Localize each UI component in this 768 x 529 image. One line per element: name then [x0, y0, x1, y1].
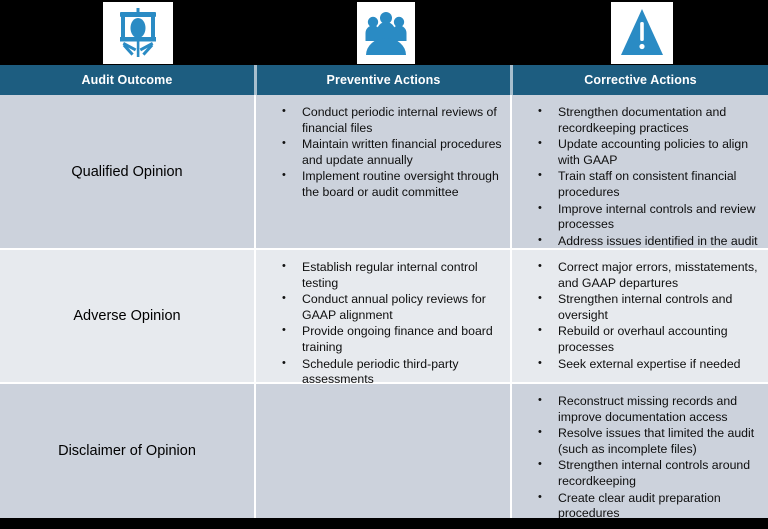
preventive-actions-list: [256, 384, 510, 400]
corrective-actions-list: Strengthen documentation and recordkeepi…: [512, 95, 768, 256]
corrective-actions-cell: Strengthen documentation and recordkeepi…: [510, 95, 768, 248]
table-row: Disclaimer of Opinion Reconstruct missin…: [0, 384, 768, 518]
corrective-actions-cell: Reconstruct missing records and improve …: [510, 384, 768, 518]
icon-box-preventive-actions: [357, 2, 415, 64]
audit-outcome-label: Qualified Opinion: [71, 164, 182, 180]
corrective-actions-list: Correct major errors, misstatements, and…: [512, 250, 768, 379]
table-header-row: Audit Outcome Preventive Actions Correct…: [0, 65, 768, 95]
list-item: Train staff on consistent financial proc…: [538, 169, 760, 200]
list-item: Update accounting policies to align with…: [538, 137, 760, 168]
group-of-people-icon: [364, 9, 408, 57]
preventive-actions-cell: Establish regular internal control testi…: [254, 250, 510, 382]
list-item: Conduct periodic internal reviews of fin…: [282, 105, 502, 136]
warning-triangle-icon: [620, 8, 664, 58]
preventive-actions-cell: Conduct periodic internal reviews of fin…: [254, 95, 510, 248]
list-item: Maintain written financial procedures an…: [282, 137, 502, 168]
preventive-actions-list: Establish regular internal control testi…: [256, 250, 510, 395]
list-item: Reconstruct missing records and improve …: [538, 394, 760, 425]
column-header-preventive-actions: Preventive Actions: [254, 65, 510, 95]
list-item: Resolve issues that limited the audit (s…: [538, 426, 760, 457]
preventive-actions-list: Conduct periodic internal reviews of fin…: [256, 95, 510, 208]
audit-outcome-table: Audit Outcome Preventive Actions Correct…: [0, 65, 768, 518]
table-row: Adverse Opinion Establish regular intern…: [0, 250, 768, 384]
corrective-actions-cell: Correct major errors, misstatements, and…: [510, 250, 768, 382]
icon-band: [0, 0, 768, 65]
column-header-label: Preventive Actions: [327, 73, 441, 87]
list-item: Provide ongoing finance and board traini…: [282, 324, 502, 355]
list-item: Strengthen internal controls around reco…: [538, 458, 760, 489]
list-item: Seek external expertise if needed: [538, 357, 760, 373]
preventive-actions-cell: [254, 384, 510, 518]
list-item: Correct major errors, misstatements, and…: [538, 260, 760, 291]
audit-outcome-label: Adverse Opinion: [73, 308, 180, 324]
icon-box-audit-outcome: [103, 2, 173, 64]
audit-outcome-label: Disclaimer of Opinion: [58, 443, 196, 459]
column-header-label: Corrective Actions: [584, 73, 696, 87]
bottom-strip: [0, 518, 768, 526]
column-header-label: Audit Outcome: [82, 73, 173, 87]
corrective-actions-list: Reconstruct missing records and improve …: [512, 384, 768, 529]
audit-outcome-cell: Disclaimer of Opinion: [0, 384, 254, 518]
list-item: Strengthen internal controls and oversig…: [538, 292, 760, 323]
list-item: Improve internal controls and review pro…: [538, 202, 760, 233]
table-row: Qualified Opinion Conduct periodic inter…: [0, 95, 768, 250]
list-item: Implement routine oversight through the …: [282, 169, 502, 200]
list-item: Address issues identified in the audit: [538, 234, 760, 250]
list-item: Strengthen documentation and recordkeepi…: [538, 105, 760, 136]
list-item: Rebuild or overhaul accounting processes: [538, 324, 760, 355]
icon-box-corrective-actions: [611, 2, 673, 64]
list-item: Conduct annual policy reviews for GAAP a…: [282, 292, 502, 323]
audit-outcome-cell: Adverse Opinion: [0, 250, 254, 382]
list-item: Establish regular internal control testi…: [282, 260, 502, 291]
audit-outcome-cell: Qualified Opinion: [0, 95, 254, 248]
column-header-corrective-actions: Corrective Actions: [510, 65, 768, 95]
column-header-audit-outcome: Audit Outcome: [0, 65, 254, 95]
presentation-board-icon: [115, 8, 161, 58]
